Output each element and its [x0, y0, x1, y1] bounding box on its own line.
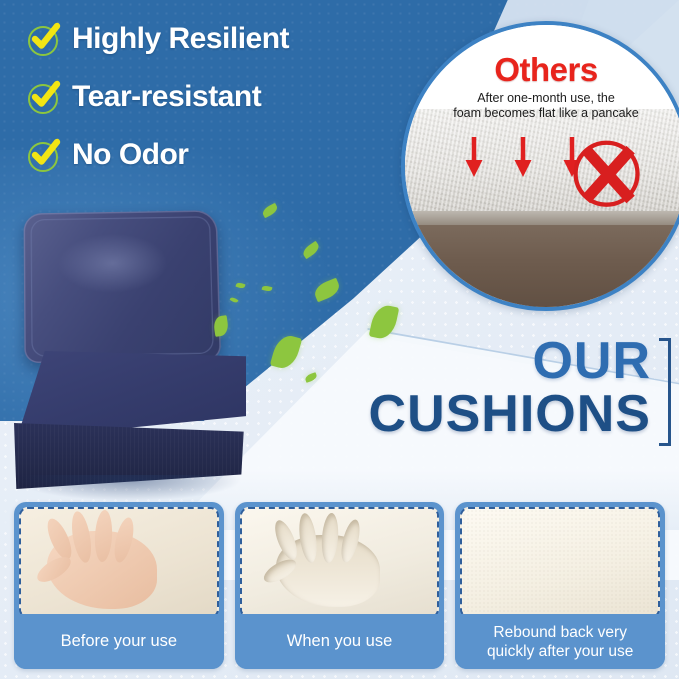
panel-caption-text: Before your use	[61, 632, 177, 651]
check-circle-icon	[26, 139, 59, 172]
others-subtitle-line1: After one-month use, the	[477, 91, 615, 105]
panel-caption: Rebound back very quickly after your use	[455, 614, 665, 669]
panel-caption-text: When you use	[287, 632, 392, 651]
panel-caption: Before your use	[14, 614, 224, 669]
others-title: Others	[405, 51, 679, 89]
red-x-circle-icon	[567, 129, 653, 215]
arrow-down-icon	[463, 137, 485, 179]
panel-image-hand-imprint	[240, 507, 440, 618]
others-subtitle: After one-month use, the foam becomes fl…	[405, 91, 679, 121]
panel-caption-line1: Rebound back very	[493, 624, 627, 641]
panel-caption-text: Rebound back very quickly after your use	[487, 623, 633, 661]
panel-image-hand-pressing-foam	[19, 507, 219, 618]
panel-caption: When you use	[235, 614, 445, 669]
check-circle-icon	[26, 81, 59, 114]
arrow-down-icon	[512, 137, 534, 179]
product-cushion-image	[6, 205, 256, 500]
headline-accent-bar	[668, 338, 671, 446]
feature-label: No Odor	[72, 138, 189, 172]
cushion-drop-shadow	[16, 475, 242, 501]
others-subtitle-line2: foam becomes flat like a pancake	[453, 106, 639, 120]
feature-label: Highly Resilient	[72, 22, 289, 56]
feature-item: Highly Resilient	[26, 22, 416, 56]
product-infographic: Highly Resilient Tear-resistant No Odor	[0, 0, 679, 679]
feature-label: Tear-resistant	[72, 80, 261, 114]
foam-base-dark	[405, 225, 679, 311]
feature-item: No Odor	[26, 138, 416, 172]
panel-image-recovered-foam	[460, 507, 660, 618]
back-pillow	[24, 210, 222, 363]
feature-item: Tear-resistant	[26, 80, 416, 114]
demo-panel-row: Before your use When you use	[14, 502, 665, 669]
others-comparison-circle: Others After one-month use, the foam bec…	[401, 21, 679, 311]
headline-block: OUR CUSHIONS	[369, 336, 651, 442]
headline-line-1: OUR	[369, 336, 651, 386]
feature-list: Highly Resilient Tear-resistant No Odor	[26, 22, 416, 196]
demo-panel-rebound: Rebound back very quickly after your use	[455, 502, 665, 669]
panel-caption-line2: quickly after your use	[487, 643, 633, 660]
demo-panel-when-you-use: When you use	[235, 502, 445, 669]
downward-arrow-group	[463, 137, 583, 179]
demo-panel-before-use: Before your use	[14, 502, 224, 669]
check-circle-icon	[26, 23, 59, 56]
headline-line-2: CUSHIONS	[369, 386, 651, 442]
